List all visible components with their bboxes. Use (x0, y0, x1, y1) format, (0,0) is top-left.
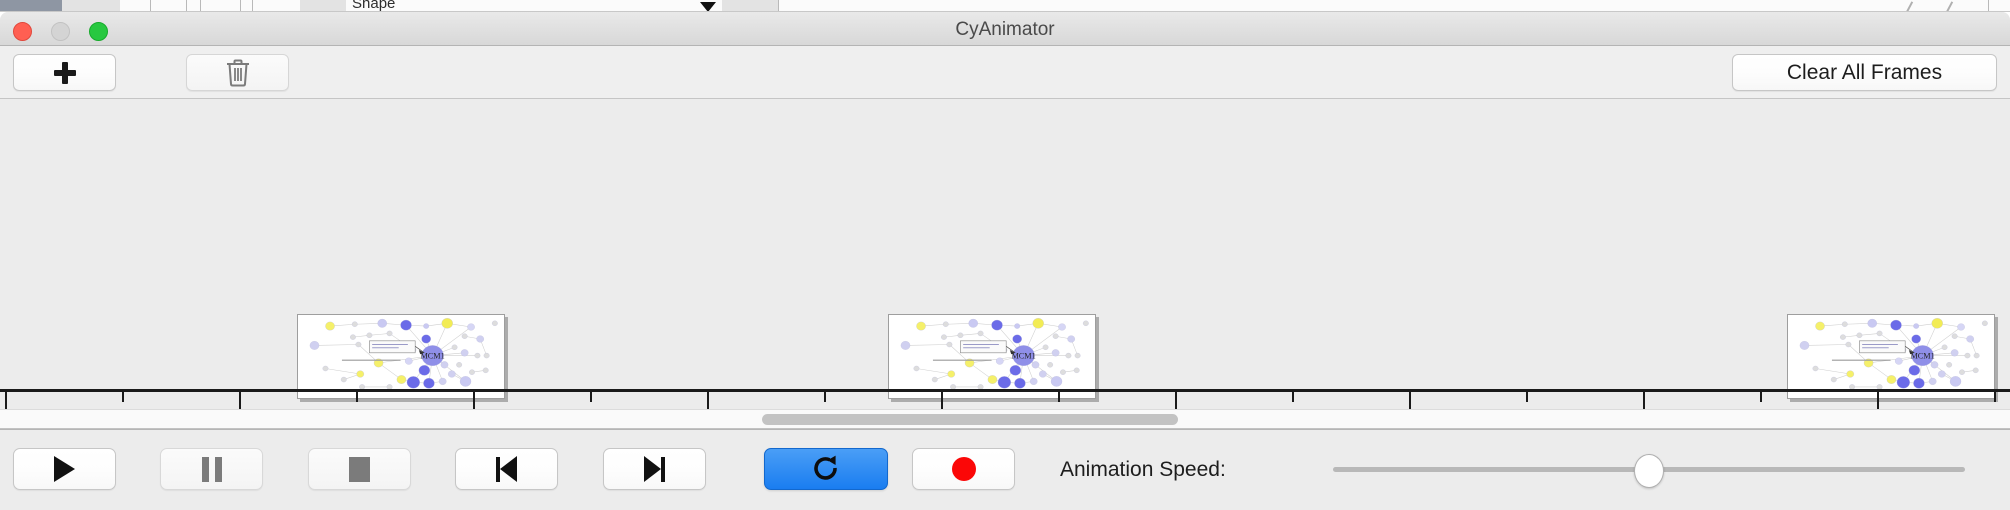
plus-icon (53, 61, 77, 85)
axis-tick (1292, 392, 1294, 402)
clear-all-frames-button[interactable]: Clear All Frames (1732, 54, 1997, 91)
timeline-scrollbar-thumb[interactable] (762, 414, 1178, 425)
axis-tick (1175, 392, 1177, 410)
window-titlebar: CyAnimator (0, 12, 2010, 46)
timeline-scrollbar[interactable] (0, 409, 2010, 429)
skip-next-icon (644, 456, 665, 482)
timeline-frame[interactable]: MCM1 (888, 314, 1096, 399)
skip-next-button[interactable] (603, 448, 706, 490)
pause-icon (202, 457, 222, 482)
record-button[interactable] (912, 448, 1015, 490)
background-window-strip: Shape (0, 0, 2010, 12)
skip-previous-button[interactable] (455, 448, 558, 490)
axis-tick (239, 392, 241, 410)
frame-thumbnail: MCM1 (1788, 315, 1994, 398)
svg-text:MCM1: MCM1 (1011, 351, 1035, 360)
cyanimator-screen: Shape CyAnimator (0, 0, 2010, 510)
play-icon (54, 456, 75, 482)
loop-icon (811, 454, 841, 484)
axis-tick (1994, 392, 1996, 402)
timeline-frame[interactable]: MCM1 (1787, 314, 1995, 399)
frame-thumbnail: MCM1 (889, 315, 1095, 398)
timeline-frame[interactable]: MCM1 (297, 314, 505, 399)
animation-speed-slider-thumb[interactable] (1634, 454, 1664, 488)
record-icon (952, 457, 976, 481)
stop-button[interactable] (308, 448, 411, 490)
axis-tick (1760, 392, 1762, 402)
axis-tick (590, 392, 592, 402)
axis-tick (122, 392, 124, 402)
cyanimator-window: CyAnimator Clear All Frames MCM1MCM1MCM1 (0, 12, 2010, 510)
window-title: CyAnimator (0, 19, 2010, 41)
axis-tick (1877, 392, 1879, 410)
axis-tick (1526, 392, 1528, 402)
axis-tick (473, 392, 475, 410)
animation-speed-label: Animation Speed: (1060, 458, 1226, 482)
skip-previous-icon (496, 456, 517, 482)
add-frame-button[interactable] (13, 54, 116, 91)
svg-text:MCM1: MCM1 (1910, 351, 1934, 360)
playback-controls: Animation Speed: (0, 429, 2010, 507)
axis-tick (5, 392, 7, 410)
trash-icon (225, 58, 251, 88)
pause-button[interactable] (160, 448, 263, 490)
axis-tick (824, 392, 826, 402)
clear-all-frames-label: Clear All Frames (1787, 61, 1942, 85)
axis-tick (1409, 392, 1411, 410)
axis-tick (356, 392, 358, 402)
axis-line (0, 389, 2010, 392)
axis-tick (707, 392, 709, 410)
axis-tick (1058, 392, 1060, 402)
axis-tick (1643, 392, 1645, 410)
loop-button[interactable] (764, 448, 888, 490)
svg-text:MCM1: MCM1 (420, 351, 444, 360)
play-button[interactable] (13, 448, 116, 490)
frame-toolbar: Clear All Frames (0, 46, 2010, 99)
frame-thumbnail: MCM1 (298, 315, 504, 398)
stop-icon (349, 457, 370, 482)
delete-frame-button[interactable] (186, 54, 289, 91)
axis-tick (941, 392, 943, 410)
timeline-panel[interactable]: MCM1MCM1MCM1 2131415161718 Seconds (0, 99, 2010, 429)
